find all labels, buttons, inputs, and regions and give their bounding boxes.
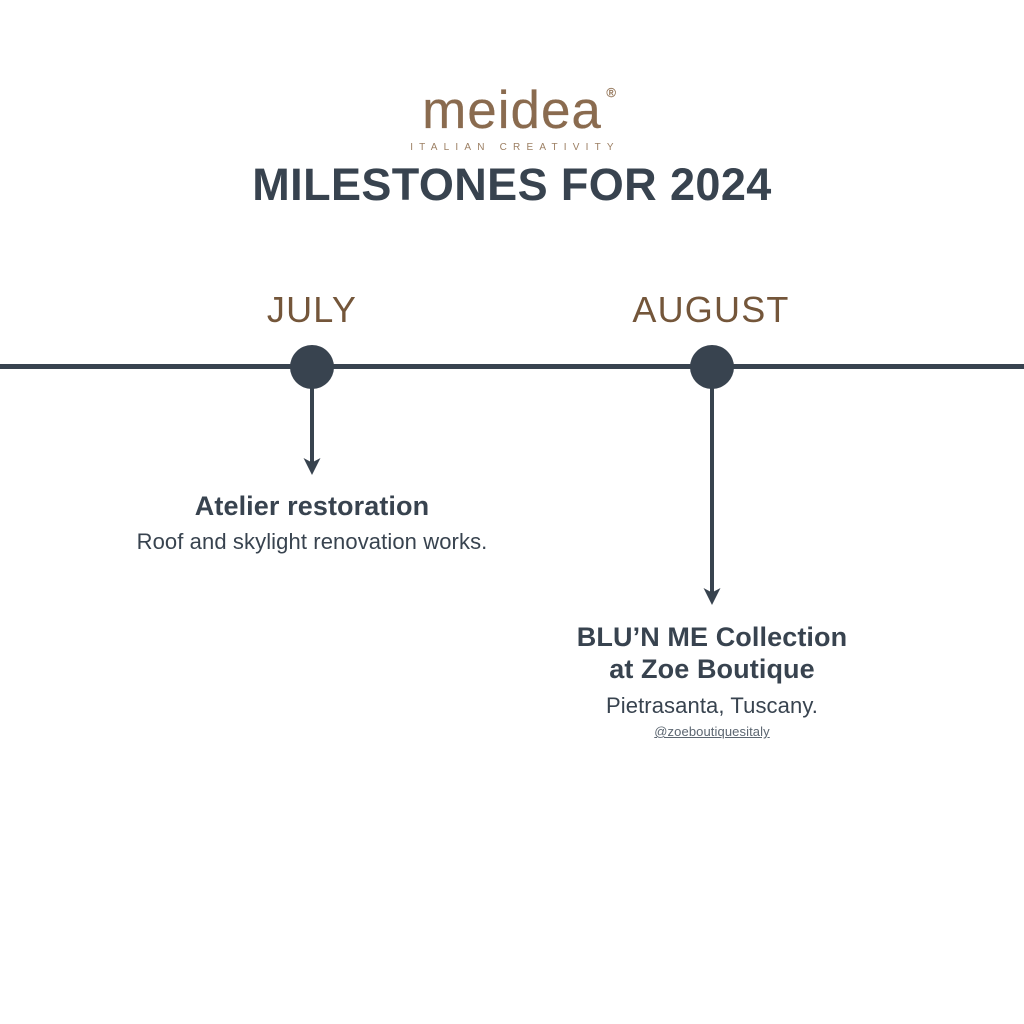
timeline-month-july: JULY <box>212 290 412 330</box>
milestone-title-august-line1: BLU’N ME Collection <box>462 621 962 653</box>
registered-trademark-icon: ® <box>606 86 617 99</box>
connector-arrow-august <box>700 385 724 607</box>
milestone-title-august-line2: at Zoe Boutique <box>462 653 962 685</box>
milestone-description-august: Pietrasanta, Tuscany. <box>462 691 962 721</box>
timeline-node-august <box>690 345 734 389</box>
timeline-node-july <box>290 345 334 389</box>
milestone-title-july: Atelier restoration <box>62 490 562 522</box>
down-arrow-icon <box>300 385 324 477</box>
milestone-event-july: Atelier restoration Roof and skylight re… <box>62 490 562 557</box>
brand-logo: meidea® ITALIAN CREATIVITY <box>0 84 1024 154</box>
timeline-month-august: AUGUST <box>611 290 811 330</box>
milestone-social-handle-august[interactable]: @zoeboutiquesitaly <box>462 723 962 741</box>
connector-arrow-july <box>300 385 324 477</box>
down-arrow-icon <box>700 385 724 607</box>
milestone-event-august: BLU’N ME Collection at Zoe Boutique Piet… <box>462 621 962 741</box>
brand-wordmark: meidea® <box>422 84 602 138</box>
milestone-description-july: Roof and skylight renovation works. <box>62 527 562 557</box>
infographic-canvas: meidea® ITALIAN CREATIVITY MILESTONES FO… <box>0 0 1024 1024</box>
timeline-axis <box>0 364 1024 369</box>
page-title: MILESTONES FOR 2024 <box>0 157 1024 212</box>
brand-tagline: ITALIAN CREATIVITY <box>0 142 1024 154</box>
brand-wordmark-text: meidea <box>422 81 602 140</box>
